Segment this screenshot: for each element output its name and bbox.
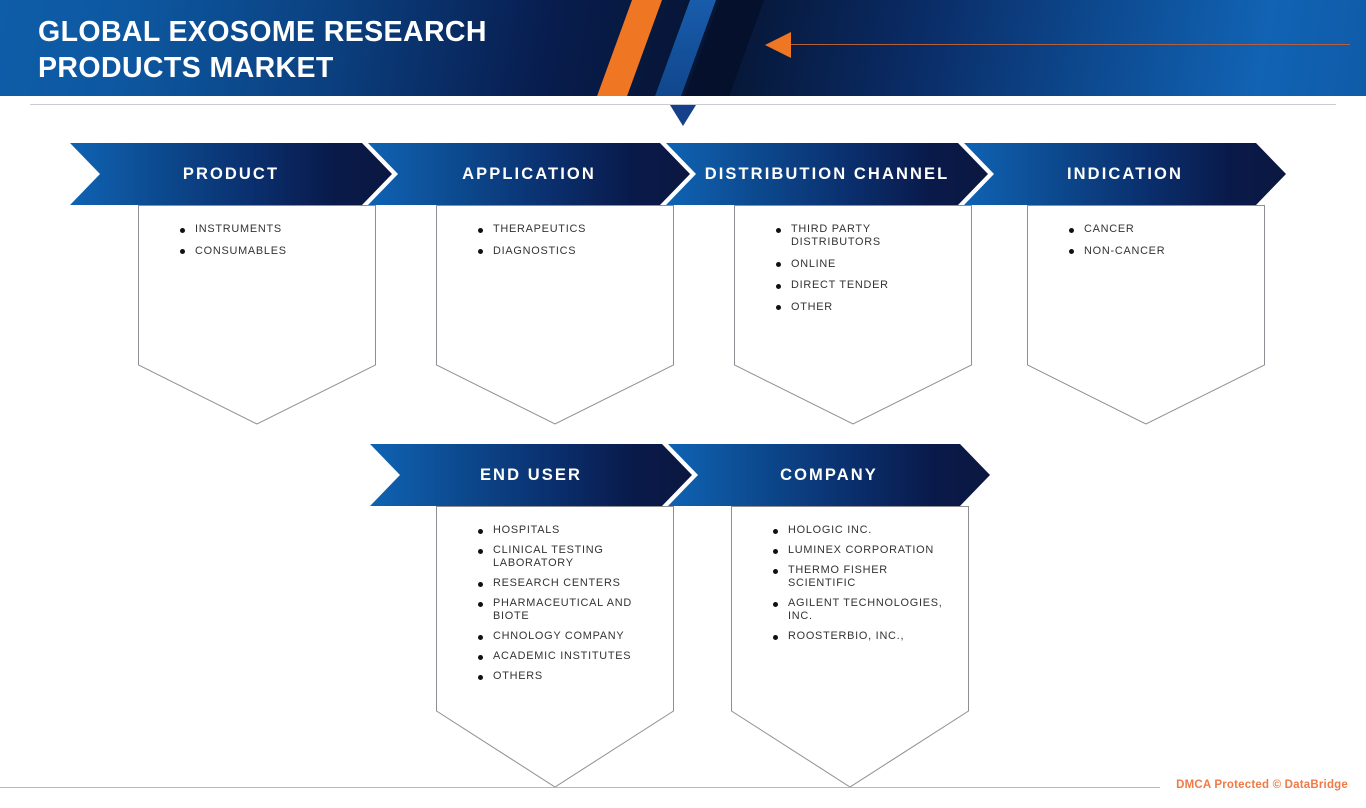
list-item: RESEARCH CENTERS bbox=[478, 577, 660, 590]
segment-item-list: THIRD PARTY DISTRIBUTORS ONLINE DIRECT T… bbox=[776, 223, 958, 322]
list-item: AGILENT TECHNOLOGIES, INC. bbox=[773, 597, 955, 623]
header-band: GLOBAL EXOSOME RESEARCH PRODUCTS MARKET bbox=[0, 0, 1366, 96]
list-item: ACADEMIC INSTITUTES bbox=[478, 650, 660, 663]
header-arrow-line bbox=[790, 44, 1350, 45]
footer-divider-rule bbox=[0, 787, 1160, 788]
list-item: ROOSTERBIO, INC., bbox=[773, 630, 955, 643]
segment-item-list: INSTRUMENTS CONSUMABLES bbox=[180, 223, 362, 266]
list-item: NON-CANCER bbox=[1069, 245, 1251, 258]
dmca-footer-text: DMCA Protected © DataBridge bbox=[1176, 779, 1348, 791]
infographic-page: GLOBAL EXOSOME RESEARCH PRODUCTS MARKET … bbox=[0, 0, 1366, 808]
segment-banner-label: APPLICATION bbox=[462, 165, 596, 184]
list-item: THIRD PARTY DISTRIBUTORS bbox=[776, 223, 958, 249]
list-item: DIRECT TENDER bbox=[776, 279, 958, 292]
page-title: GLOBAL EXOSOME RESEARCH PRODUCTS MARKET bbox=[38, 14, 658, 86]
list-item: DIAGNOSTICS bbox=[478, 245, 660, 258]
segment-card-distribution-channel: THIRD PARTY DISTRIBUTORS ONLINE DIRECT T… bbox=[734, 205, 972, 425]
list-item: HOSPITALS bbox=[478, 524, 660, 537]
segment-card-application: THERAPEUTICS DIAGNOSTICS bbox=[436, 205, 674, 425]
segment-banner-company[interactable]: COMPANY bbox=[668, 444, 990, 506]
caret-down-icon bbox=[670, 105, 696, 126]
segment-card-indication: CANCER NON-CANCER bbox=[1027, 205, 1265, 425]
segment-card-end-user: HOSPITALS CLINICAL TESTING LABORATORY RE… bbox=[436, 506, 674, 788]
segment-item-list: CANCER NON-CANCER bbox=[1069, 223, 1251, 266]
segment-item-list: HOLOGIC INC. LUMINEX CORPORATION THERMO … bbox=[773, 524, 955, 650]
list-item: OTHERS bbox=[478, 670, 660, 683]
list-item: CLINICAL TESTING LABORATORY bbox=[478, 544, 660, 570]
list-item: CONSUMABLES bbox=[180, 245, 362, 258]
list-item: INSTRUMENTS bbox=[180, 223, 362, 236]
list-item: CANCER bbox=[1069, 223, 1251, 236]
list-item: PHARMACEUTICAL AND BIOTE bbox=[478, 597, 660, 623]
segment-item-list: HOSPITALS CLINICAL TESTING LABORATORY RE… bbox=[478, 524, 660, 690]
segment-banner-label: END USER bbox=[480, 466, 582, 485]
left-arrow-icon bbox=[765, 32, 791, 58]
segment-banner-label: PRODUCT bbox=[183, 165, 279, 184]
page-title-line-1: GLOBAL EXOSOME RESEARCH bbox=[38, 14, 658, 50]
segment-card-product: INSTRUMENTS CONSUMABLES bbox=[138, 205, 376, 425]
list-item: THERAPEUTICS bbox=[478, 223, 660, 236]
segment-banner-label: INDICATION bbox=[1067, 165, 1183, 184]
segment-banner-label: DISTRIBUTION CHANNEL bbox=[705, 165, 950, 184]
segment-banner-indication[interactable]: INDICATION bbox=[964, 143, 1286, 205]
segment-banner-product[interactable]: PRODUCT bbox=[70, 143, 392, 205]
segment-card-company: HOLOGIC INC. LUMINEX CORPORATION THERMO … bbox=[731, 506, 969, 788]
list-item: CHNOLOGY COMPANY bbox=[478, 630, 660, 643]
segment-item-list: THERAPEUTICS DIAGNOSTICS bbox=[478, 223, 660, 266]
segment-banner-distribution-channel[interactable]: DISTRIBUTION CHANNEL bbox=[666, 143, 988, 205]
list-item: LUMINEX CORPORATION bbox=[773, 544, 955, 557]
segment-banner-end-user[interactable]: END USER bbox=[370, 444, 692, 506]
list-item: ONLINE bbox=[776, 258, 958, 271]
segment-banner-application[interactable]: APPLICATION bbox=[368, 143, 690, 205]
list-item: HOLOGIC INC. bbox=[773, 524, 955, 537]
segment-banner-label: COMPANY bbox=[780, 466, 878, 485]
list-item: THERMO FISHER SCIENTIFIC bbox=[773, 564, 955, 590]
page-title-line-2: PRODUCTS MARKET bbox=[38, 50, 658, 86]
list-item: OTHER bbox=[776, 301, 958, 314]
